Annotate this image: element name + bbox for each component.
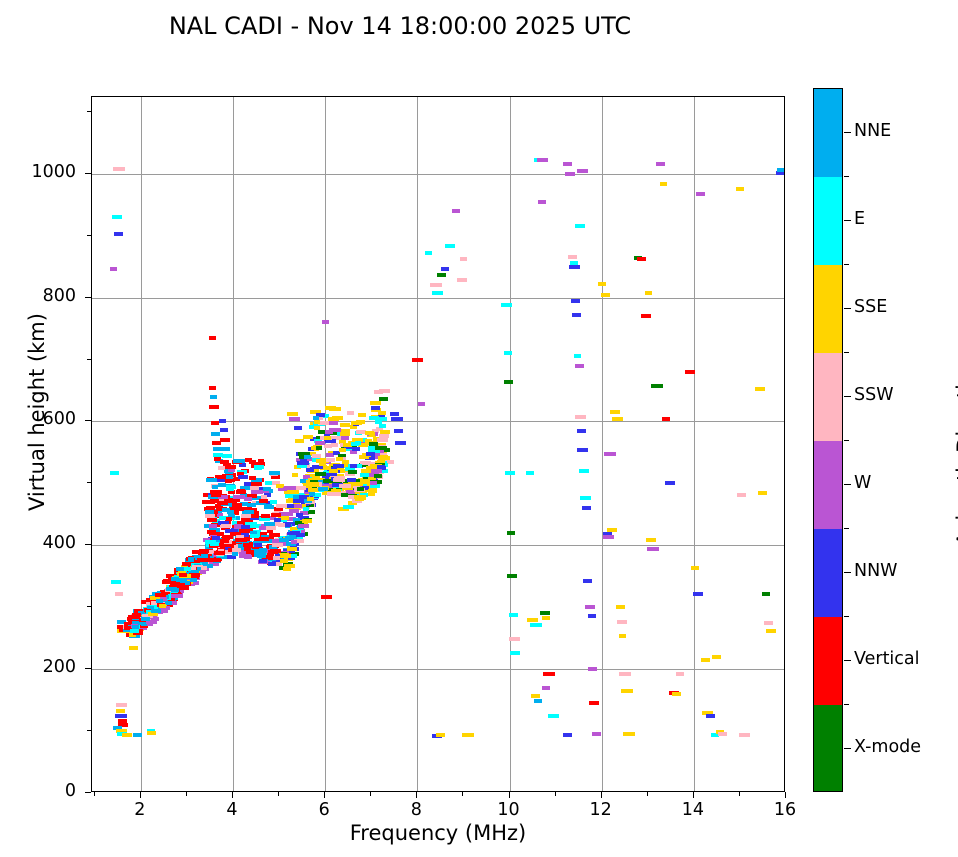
data-point: [540, 611, 550, 615]
colorbar-segment-w[interactable]: [814, 441, 842, 530]
data-point: [340, 423, 350, 427]
data-point: [328, 417, 339, 421]
data-point: [307, 497, 314, 501]
data-point: [287, 412, 298, 416]
data-point: [571, 299, 580, 303]
data-point: [432, 291, 443, 295]
data-point: [507, 574, 517, 578]
data-point: [244, 497, 252, 501]
data-point: [575, 364, 584, 368]
data-point: [259, 559, 267, 563]
x-tick-label: 4: [202, 800, 262, 820]
data-point: [764, 621, 773, 625]
colorbar-segment-x-mode[interactable]: [814, 705, 842, 792]
x-tick-label: 8: [386, 800, 446, 820]
y-tick-mark: [85, 544, 91, 545]
data-point: [737, 493, 746, 497]
data-point: [205, 500, 215, 504]
page-title: NAL CADI - Nov 14 18:00:00 2025 UTC: [0, 12, 800, 40]
data-point: [601, 293, 610, 297]
data-point: [574, 354, 581, 358]
data-point: [314, 420, 320, 424]
data-point: [111, 580, 121, 584]
data-point: [211, 493, 221, 497]
data-point: [221, 524, 230, 528]
gridline-vertical: [602, 97, 603, 791]
data-point: [246, 550, 254, 554]
x-tick-label: 16: [755, 800, 815, 820]
data-point: [206, 478, 217, 482]
x-tick-mark: [601, 792, 602, 798]
data-point: [226, 475, 233, 479]
x-tick-mark: [232, 792, 233, 798]
data-point: [197, 558, 206, 562]
data-point: [322, 320, 329, 324]
data-point: [548, 714, 559, 718]
data-point: [114, 232, 123, 236]
data-point: [565, 172, 575, 176]
gridline-horizontal: [92, 421, 784, 422]
colorbar-boundary-tick: [844, 264, 849, 265]
data-point: [588, 667, 597, 671]
data-point: [309, 482, 319, 486]
data-point: [537, 158, 548, 162]
data-point: [220, 428, 228, 432]
data-point: [333, 464, 344, 468]
data-point: [244, 510, 254, 514]
data-point: [151, 609, 161, 613]
data-point: [619, 672, 631, 676]
data-point: [306, 468, 314, 472]
data-point: [273, 556, 280, 560]
colorbar-tick-mark: [844, 660, 851, 661]
data-point: [579, 469, 589, 473]
data-point: [211, 421, 219, 425]
data-point: [318, 430, 325, 434]
colorbar[interactable]: [813, 88, 843, 792]
data-point: [370, 481, 377, 485]
colorbar-label-nne: NNE: [854, 121, 891, 141]
data-point: [166, 587, 177, 591]
data-point: [292, 473, 298, 477]
data-point: [254, 543, 262, 547]
data-point: [685, 370, 695, 374]
data-point: [215, 551, 222, 555]
data-point: [331, 443, 338, 447]
data-point: [227, 510, 234, 514]
data-point: [220, 539, 229, 543]
data-point: [321, 595, 332, 599]
data-point: [110, 267, 117, 271]
data-point: [436, 733, 445, 737]
data-point: [357, 487, 364, 491]
x-tick-label: 2: [110, 800, 170, 820]
data-point: [218, 483, 226, 487]
data-point: [294, 426, 302, 430]
data-point: [378, 417, 387, 421]
data-point: [371, 406, 380, 410]
data-point: [211, 432, 220, 436]
data-point: [637, 257, 646, 261]
colorbar-segment-nne[interactable]: [814, 89, 842, 178]
data-point: [290, 531, 300, 535]
data-point: [219, 516, 226, 520]
data-point: [607, 528, 617, 532]
x-tick-mark: [785, 792, 786, 798]
data-point: [504, 351, 512, 355]
data-point: [342, 460, 349, 464]
data-point: [371, 469, 382, 473]
x-tick-minor: [739, 792, 740, 796]
data-point: [271, 513, 281, 517]
data-point: [350, 464, 357, 468]
data-point: [254, 553, 263, 557]
data-point: [339, 448, 346, 452]
data-point: [290, 547, 297, 551]
data-point: [575, 415, 586, 419]
data-point: [341, 493, 348, 497]
data-point: [265, 526, 276, 530]
data-point: [115, 592, 123, 596]
gridline-vertical: [694, 97, 695, 791]
colorbar-label-vertical: Vertical: [854, 649, 920, 669]
data-point: [113, 167, 125, 171]
data-point: [412, 358, 423, 362]
gridline-vertical: [510, 97, 511, 791]
data-point: [626, 732, 635, 736]
data-point: [580, 496, 591, 500]
data-point: [569, 265, 580, 269]
data-point: [374, 474, 382, 478]
data-point: [582, 506, 591, 510]
colorbar-label-x-mode: X-mode: [854, 737, 921, 757]
x-tick-label: 10: [479, 800, 539, 820]
data-point: [258, 459, 264, 463]
colorbar-title: Azimuth Direction: [953, 282, 958, 622]
data-point: [259, 499, 268, 503]
data-point: [316, 446, 322, 450]
data-point: [274, 518, 281, 522]
data-point: [380, 430, 390, 434]
data-point: [209, 524, 217, 528]
data-point: [507, 531, 515, 535]
data-point: [645, 291, 652, 295]
data-point: [363, 479, 370, 483]
y-tick-minor: [87, 111, 91, 112]
data-point: [234, 525, 241, 529]
data-point: [585, 605, 595, 609]
data-point: [220, 460, 229, 464]
data-point: [460, 257, 467, 261]
colorbar-boundary-tick: [844, 616, 849, 617]
data-point: [300, 479, 306, 483]
data-point: [147, 731, 156, 735]
data-point: [251, 490, 263, 494]
x-tick-mark: [509, 792, 510, 798]
colorbar-tick-mark: [844, 396, 851, 397]
data-point: [249, 476, 256, 480]
data-point: [543, 672, 555, 676]
gridline-horizontal: [92, 669, 784, 670]
data-point: [538, 200, 546, 204]
data-point: [115, 714, 127, 718]
y-axis-label: Virtual height (km): [25, 242, 49, 582]
data-point: [296, 513, 303, 517]
colorbar-tick-mark: [844, 308, 851, 309]
data-point: [526, 471, 534, 475]
data-point: [254, 466, 262, 470]
x-axis-label: Frequency (MHz): [91, 821, 785, 845]
x-tick-minor: [555, 792, 556, 796]
data-point: [207, 530, 216, 534]
data-point: [329, 469, 338, 473]
data-point: [676, 672, 684, 676]
data-point: [603, 535, 614, 539]
data-point: [691, 566, 699, 570]
data-point: [441, 267, 449, 271]
colorbar-label-e: E: [854, 209, 865, 229]
data-point: [329, 428, 341, 432]
colorbar-label-nnw: NNW: [854, 561, 898, 581]
data-point: [280, 559, 288, 563]
y-tick-minor: [87, 606, 91, 607]
data-point: [445, 244, 455, 248]
data-point: [672, 692, 681, 696]
data-point: [294, 504, 302, 508]
data-point: [213, 447, 222, 451]
data-point: [211, 558, 221, 562]
data-point: [261, 514, 270, 518]
data-point: [303, 507, 309, 511]
data-point: [209, 336, 216, 340]
data-point: [236, 490, 246, 494]
data-point: [665, 481, 675, 485]
data-point: [112, 215, 122, 219]
x-tick-mark: [416, 792, 417, 798]
data-point: [261, 495, 267, 499]
data-point: [568, 255, 577, 259]
data-point: [160, 609, 168, 613]
data-point: [505, 471, 515, 475]
data-point: [133, 733, 142, 737]
data-point: [353, 482, 363, 486]
data-point: [706, 714, 715, 718]
data-point: [360, 473, 369, 477]
data-point: [395, 441, 406, 445]
data-point: [341, 429, 350, 433]
data-point: [218, 466, 225, 470]
data-point: [171, 594, 182, 598]
data-point: [295, 439, 304, 443]
data-point: [222, 447, 230, 451]
data-point: [430, 283, 442, 287]
data-point: [437, 273, 446, 277]
data-point: [281, 553, 289, 557]
data-point: [380, 455, 388, 459]
data-point: [462, 733, 474, 737]
data-point: [656, 162, 665, 166]
y-tick-minor: [87, 482, 91, 483]
data-point: [232, 548, 241, 552]
data-point: [621, 689, 633, 693]
data-point: [339, 484, 351, 488]
data-point: [651, 384, 663, 388]
data-point: [351, 421, 362, 425]
data-point: [141, 617, 150, 621]
data-point: [391, 417, 403, 421]
data-point: [374, 390, 383, 394]
y-tick-label: 200: [0, 657, 76, 677]
data-point: [210, 542, 219, 546]
data-point: [343, 505, 354, 509]
data-point: [341, 436, 349, 440]
data-point: [238, 475, 248, 479]
data-point: [647, 547, 659, 551]
data-point: [250, 482, 262, 486]
data-point: [278, 523, 285, 527]
colorbar-label-w: W: [854, 473, 871, 493]
colorbar-boundary-tick: [844, 176, 849, 177]
data-point: [641, 314, 651, 318]
data-point: [225, 465, 236, 469]
data-point: [318, 487, 328, 491]
data-point: [542, 616, 550, 620]
colorbar-segment-vertical[interactable]: [814, 617, 842, 706]
data-point: [156, 599, 163, 603]
y-tick-minor: [87, 235, 91, 236]
data-point: [244, 482, 251, 486]
data-point: [563, 162, 572, 166]
data-point: [217, 501, 228, 505]
data-point: [583, 579, 592, 583]
data-point: [116, 703, 127, 707]
data-point: [165, 601, 172, 605]
data-point: [348, 470, 357, 474]
data-point: [326, 458, 335, 462]
data-point: [660, 182, 667, 186]
colorbar-label-ssw: SSW: [854, 385, 894, 405]
colorbar-boundary-tick: [844, 352, 849, 353]
data-point: [297, 461, 309, 465]
data-point: [662, 417, 670, 421]
data-point: [209, 405, 219, 409]
data-point: [368, 489, 377, 493]
x-tick-mark: [693, 792, 694, 798]
y-tick-mark: [85, 668, 91, 669]
data-point: [304, 455, 311, 459]
y-tick-minor: [87, 730, 91, 731]
data-point: [214, 457, 221, 461]
colorbar-boundary-tick: [844, 440, 849, 441]
data-point: [200, 570, 206, 574]
data-point: [284, 486, 296, 490]
data-point: [324, 436, 331, 440]
x-tick-mark: [140, 792, 141, 798]
data-point: [179, 573, 187, 577]
data-point: [226, 487, 234, 491]
data-point: [146, 620, 157, 624]
data-point: [259, 526, 266, 530]
colorbar-tick-mark: [844, 132, 851, 133]
data-point: [265, 481, 272, 485]
plot-area[interactable]: [91, 96, 785, 792]
colorbar-segment-e[interactable]: [814, 177, 842, 266]
data-point: [210, 395, 217, 399]
data-point: [130, 629, 139, 633]
data-point: [366, 452, 375, 456]
data-point: [189, 573, 200, 577]
colorbar-segment-nnw[interactable]: [814, 529, 842, 618]
x-tick-minor: [370, 792, 371, 796]
y-tick-label: 1000: [0, 162, 76, 182]
data-point: [577, 169, 588, 173]
x-tick-mark: [324, 792, 325, 798]
colorbar-tick-mark: [844, 748, 851, 749]
data-point: [577, 429, 586, 433]
x-tick-label: 6: [294, 800, 354, 820]
data-point: [762, 592, 770, 596]
data-point: [693, 592, 703, 596]
data-point: [766, 629, 776, 633]
data-point: [205, 510, 214, 514]
data-point: [309, 492, 315, 496]
data-point: [739, 733, 750, 737]
data-point: [129, 646, 138, 650]
data-point: [244, 555, 252, 559]
data-point: [696, 192, 705, 196]
x-tick-minor: [278, 792, 279, 796]
data-point: [315, 472, 326, 476]
data-point: [302, 519, 312, 523]
data-point: [619, 634, 626, 638]
data-point: [277, 484, 283, 488]
data-point: [534, 699, 542, 703]
data-point: [457, 278, 467, 282]
colorbar-segment-ssw[interactable]: [814, 353, 842, 442]
x-tick-minor: [647, 792, 648, 796]
data-point: [206, 506, 215, 510]
data-point: [509, 637, 520, 641]
data-point: [527, 618, 538, 622]
data-point: [240, 525, 250, 529]
data-point: [276, 504, 287, 508]
data-point: [370, 401, 381, 405]
data-point: [378, 411, 386, 415]
data-point: [510, 651, 520, 655]
data-point: [284, 564, 295, 568]
data-point: [289, 417, 300, 421]
gridline-vertical: [233, 97, 234, 791]
data-point: [758, 491, 767, 495]
x-tick-minor: [186, 792, 187, 796]
data-point: [598, 282, 606, 286]
gridline-vertical: [417, 97, 418, 791]
data-point: [612, 417, 623, 421]
data-point: [225, 479, 232, 483]
data-point: [315, 441, 325, 445]
data-point: [291, 540, 297, 544]
data-point: [269, 471, 280, 475]
figure-root: NAL CADI - Nov 14 18:00:00 2025 UTC 2468…: [0, 0, 958, 857]
data-point: [259, 537, 269, 541]
colorbar-segment-sse[interactable]: [814, 265, 842, 354]
data-point: [425, 251, 432, 255]
data-point: [352, 447, 360, 451]
data-point: [616, 605, 625, 609]
data-point: [379, 424, 386, 428]
data-point: [290, 490, 299, 494]
data-point: [604, 452, 616, 456]
